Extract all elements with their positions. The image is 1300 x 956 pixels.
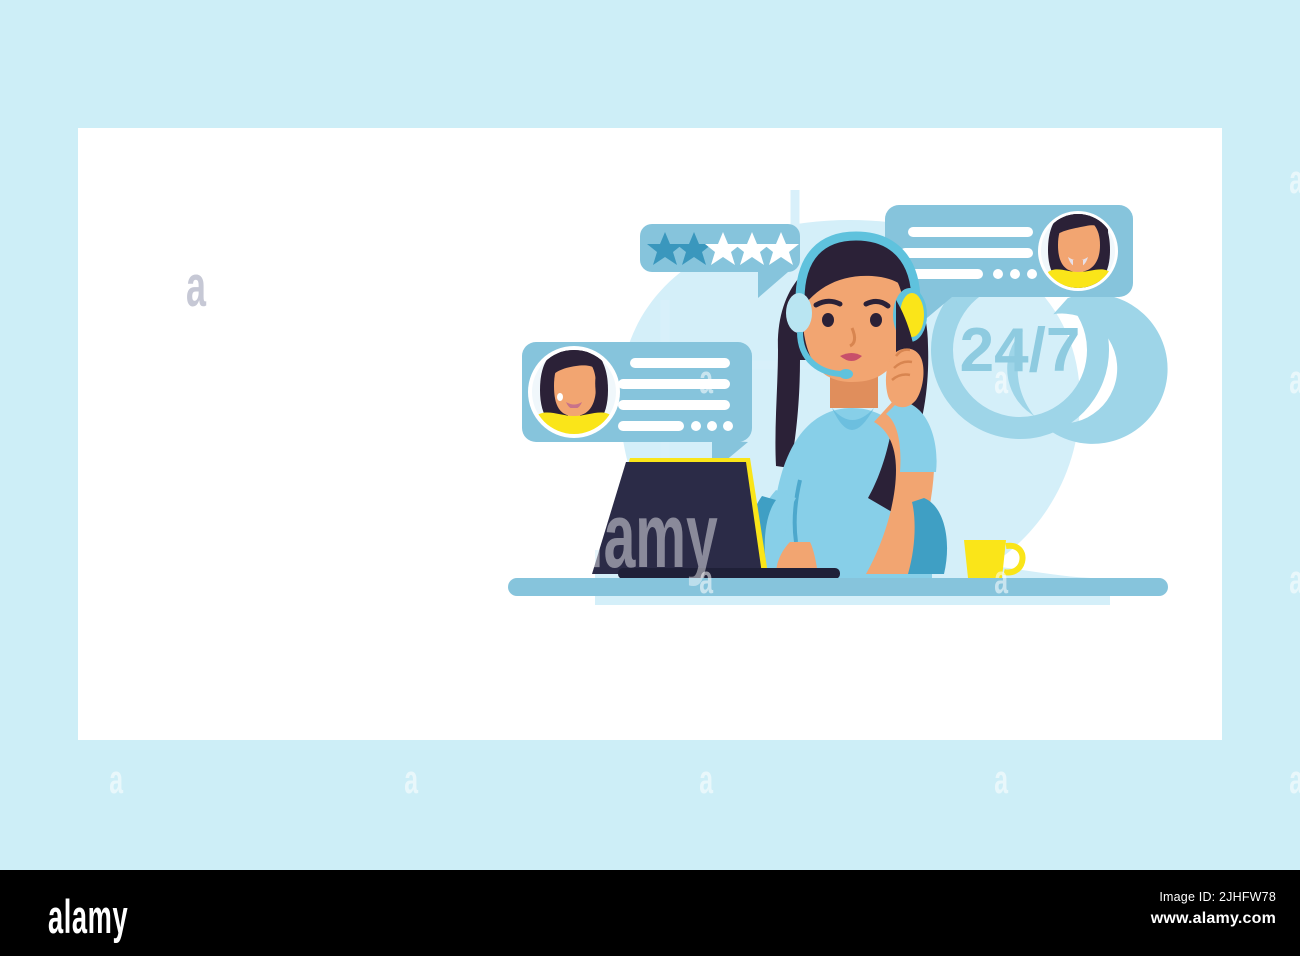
badge-24-7-label: 24/7 [960, 316, 1081, 385]
alamy-footer-bar: alamy Image ID: 2JHFW78 www.alamy.com [0, 870, 1300, 956]
watermark-glyph: a [109, 760, 123, 800]
watermark-glyph: a [1289, 360, 1300, 400]
watermark-glyph: a [404, 760, 418, 800]
alamy-logo: alamy [48, 889, 128, 944]
desk-surface [508, 578, 1168, 596]
image-id-label: Image ID: 2JHFW78 [1151, 890, 1276, 904]
watermark-glyph: a [1289, 760, 1300, 800]
watermark-glyph: a [699, 760, 713, 800]
watermark-glyph: a [1289, 560, 1300, 600]
watermark-glyph: a [1289, 160, 1300, 200]
coffee-mug [964, 540, 1022, 578]
alamy-meta: Image ID: 2JHFW78 www.alamy.com [1151, 890, 1276, 928]
alamy-url-label: www.alamy.com [1151, 910, 1276, 928]
customer-support-illustration: 24/7 [500, 150, 1200, 650]
watermark-glyph: a [994, 760, 1008, 800]
